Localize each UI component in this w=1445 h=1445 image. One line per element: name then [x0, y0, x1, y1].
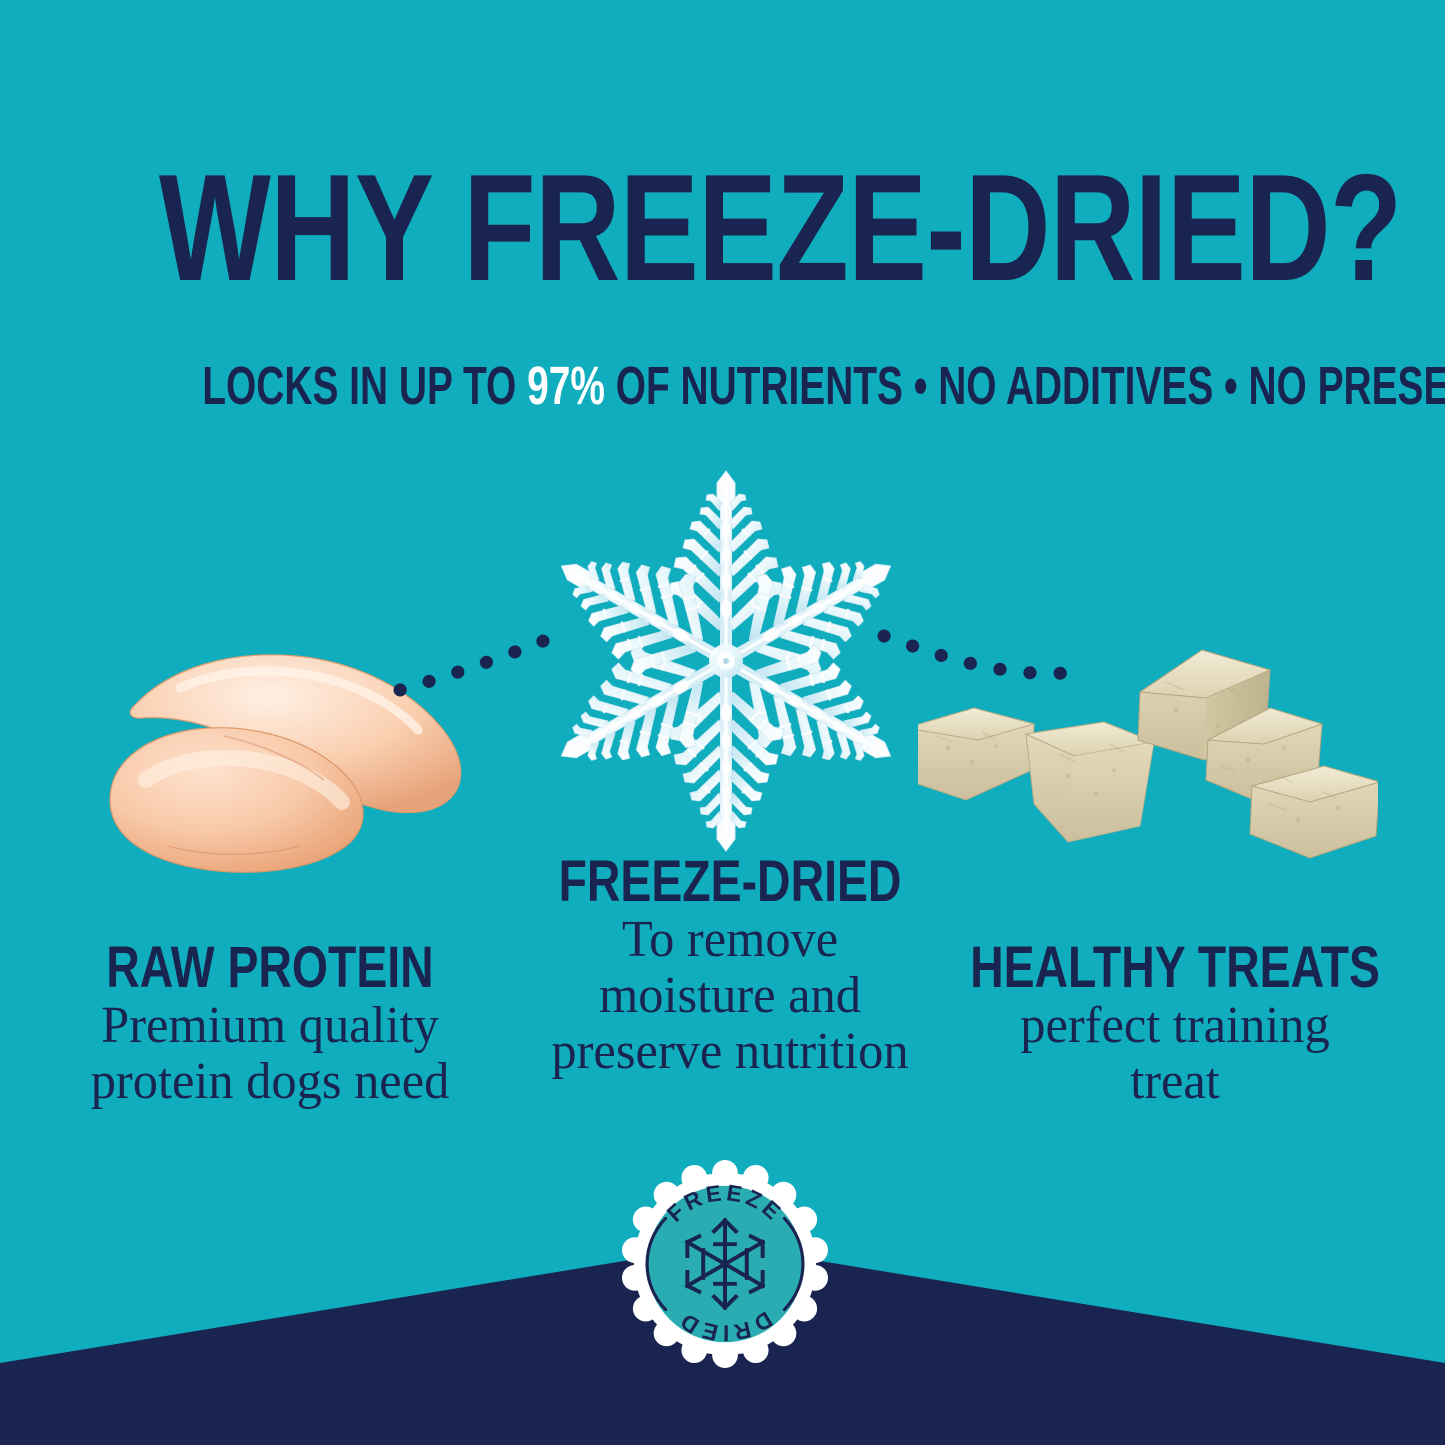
body-line: protein dogs need: [18, 1054, 522, 1110]
column-healthy-treats: HEALTHY TREATS perfect training treat: [915, 938, 1435, 1110]
body-line: moisture and: [478, 968, 982, 1024]
dotted-connector-right-icon: [884, 636, 1078, 673]
subtitle-nutrient-percent: 97%: [527, 356, 605, 416]
body-line: treat: [923, 1054, 1427, 1110]
body-line: preserve nutrition: [478, 1024, 982, 1080]
subtitle-benefits: LOCKS IN UP TO 97% OF NUTRIENTS • NO ADD…: [202, 358, 1242, 414]
column-title-healthy-treats: HEALTHY TREATS: [967, 938, 1383, 998]
page-title: WHY FREEZE-DRIED?: [159, 152, 1286, 304]
freeze-dried-seal-icon: FREEZE DRIED: [620, 1158, 830, 1370]
freeze-dried-badge: FREEZE DRIED: [620, 1158, 830, 1370]
body-line: perfect training: [923, 998, 1427, 1054]
column-body-raw-protein: Premium quality protein dogs need: [18, 998, 522, 1110]
dotted-connectors: [0, 440, 1445, 760]
subtitle-part-before: LOCKS IN UP TO: [202, 356, 527, 416]
infographic-canvas: WHY FREEZE-DRIED? LOCKS IN UP TO 97% OF …: [0, 0, 1445, 1445]
column-body-freeze-dried: To remove moisture and preserve nutritio…: [478, 912, 982, 1080]
column-title-raw-protein: RAW PROTEIN: [62, 938, 478, 998]
body-line: Premium quality: [18, 998, 522, 1054]
column-raw-protein: RAW PROTEIN Premium quality protein dogs…: [10, 938, 530, 1110]
column-body-healthy-treats: perfect training treat: [923, 998, 1427, 1110]
column-title-freeze-dried: FREEZE-DRIED: [522, 852, 938, 912]
subtitle-part-after: OF NUTRIENTS • NO ADDITIVES • NO PRESERV…: [605, 356, 1445, 416]
dotted-connector-left-icon: [400, 636, 556, 690]
column-freeze-dried: FREEZE-DRIED To remove moisture and pres…: [470, 852, 990, 1080]
body-line: To remove: [478, 912, 982, 968]
